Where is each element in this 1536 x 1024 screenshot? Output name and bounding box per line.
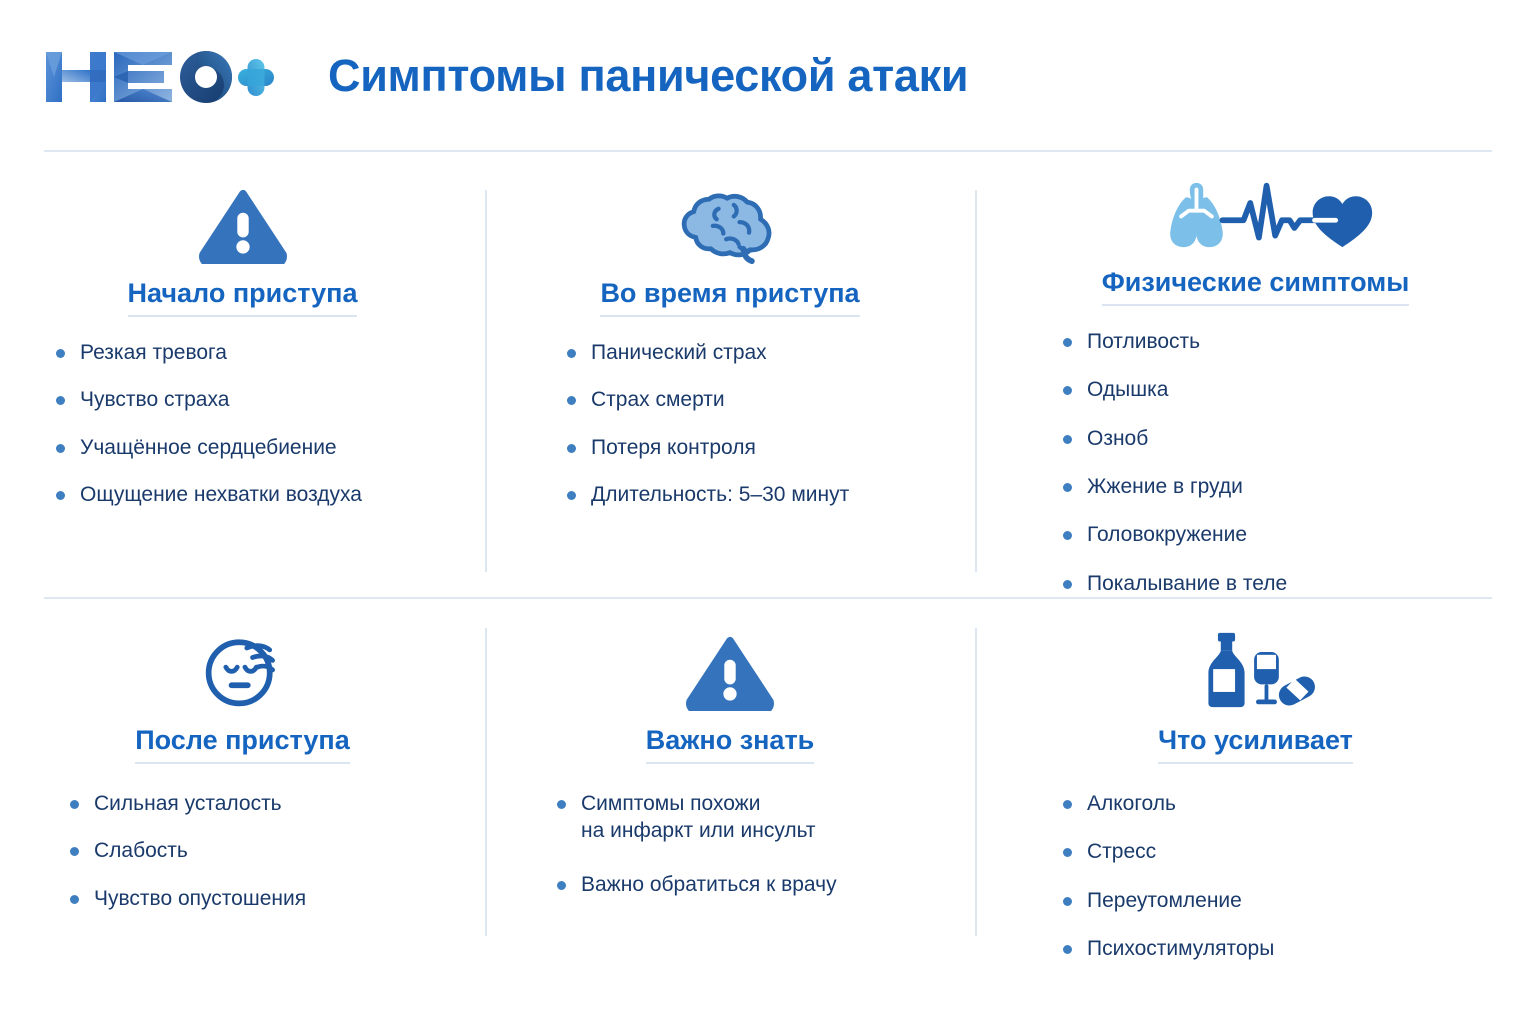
card-heading-group: Начало приступа [128, 278, 358, 317]
list-item: Ощущение нехватки воздуха [52, 481, 362, 508]
symptom-list: Симптомы похожи на инфаркт или инсульт В… [553, 790, 837, 924]
list-item: Жжение в груди [1059, 473, 1287, 500]
card-heading-group: После приступа [135, 725, 350, 764]
symptom-list: Алкоголь Стресс Переутомление Психостиму… [1059, 790, 1274, 983]
neo-plus-logo-icon [44, 46, 276, 108]
card-heading-group: Что усиливает [1158, 725, 1353, 764]
list-item: Потливость [1059, 328, 1287, 355]
list-item: Чувство опустошения [66, 885, 306, 912]
card-heading: Во время приступа [600, 278, 859, 309]
list-item: Головокружение [1059, 521, 1287, 548]
card-important-to-know: Важно знать Симптомы похожи на инфаркт и… [485, 597, 975, 1024]
list-item: Потеря контроля [563, 434, 849, 461]
tired-face-icon [197, 623, 289, 711]
list-item: Симптомы похожи на инфаркт или инсульт [553, 790, 837, 845]
card-heading-underline [1158, 762, 1353, 764]
symptom-list: Резкая тревога Чувство страха Учащённое … [52, 339, 362, 528]
list-item: Важно обратиться к врачу [553, 871, 837, 898]
card-heading-underline [128, 315, 358, 317]
card-after-attack: После приступа Сильная усталость Слабост… [0, 597, 485, 1024]
card-heading-underline [1102, 304, 1410, 306]
list-item: Одышка [1059, 376, 1287, 403]
list-item: Длительность: 5–30 минут [563, 481, 849, 508]
page-title: Симптомы панической атаки [328, 53, 968, 98]
card-start-of-attack: Начало приступа Резкая тревога Чувство с… [0, 150, 485, 597]
card-heading: Что усиливает [1158, 725, 1353, 756]
symptom-list: Сильная усталость Слабость Чувство опуст… [66, 790, 306, 932]
card-heading-underline [135, 762, 350, 764]
card-physical-symptoms: Физические симптомы Потливость Одышка Оз… [975, 150, 1536, 597]
list-item: Покалывание в теле [1059, 570, 1287, 597]
list-item: Чувство страха [52, 386, 362, 413]
symptom-list: Потливость Одышка Озноб Жжение в груди Г… [1059, 328, 1287, 618]
bottle-glass-pill-icon [1197, 623, 1315, 711]
list-item: Панический страх [563, 339, 849, 366]
symptom-cards-grid: Начало приступа Резкая тревога Чувство с… [0, 150, 1536, 1024]
card-during-attack: Во время приступа Панический страх Страх… [485, 150, 975, 597]
list-item: Учащённое сердцебиение [52, 434, 362, 461]
list-item: Психостимуляторы [1059, 935, 1274, 962]
card-heading-underline [646, 762, 815, 764]
page-header: Симптомы панической атаки [0, 0, 1536, 150]
card-heading: Начало приступа [128, 278, 358, 309]
lungs-heartbeat-heart-icon [1136, 176, 1376, 253]
card-heading-group: Физические симптомы [1102, 267, 1410, 306]
list-item: Резкая тревога [52, 339, 362, 366]
symptom-list: Панический страх Страх смерти Потеря кон… [563, 339, 849, 528]
list-item: Алкоголь [1059, 790, 1274, 817]
card-heading-underline [600, 315, 859, 317]
list-item: Стресс [1059, 838, 1274, 865]
warning-triangle-icon [686, 623, 774, 711]
list-item: Слабость [66, 837, 306, 864]
card-heading: После приступа [135, 725, 350, 756]
list-item: Озноб [1059, 425, 1287, 452]
card-what-worsens: Что усиливает Алкоголь Стресс Переутомле… [975, 597, 1536, 1024]
card-heading-group: Важно знать [646, 725, 815, 764]
list-item: Сильная усталость [66, 790, 306, 817]
list-item: Переутомление [1059, 887, 1274, 914]
list-item: Страх смерти [563, 386, 849, 413]
card-heading: Важно знать [646, 725, 815, 756]
card-heading: Физические симптомы [1102, 267, 1410, 298]
card-heading-group: Во время приступа [600, 278, 859, 317]
brain-icon [680, 176, 780, 264]
warning-triangle-icon [199, 176, 287, 264]
